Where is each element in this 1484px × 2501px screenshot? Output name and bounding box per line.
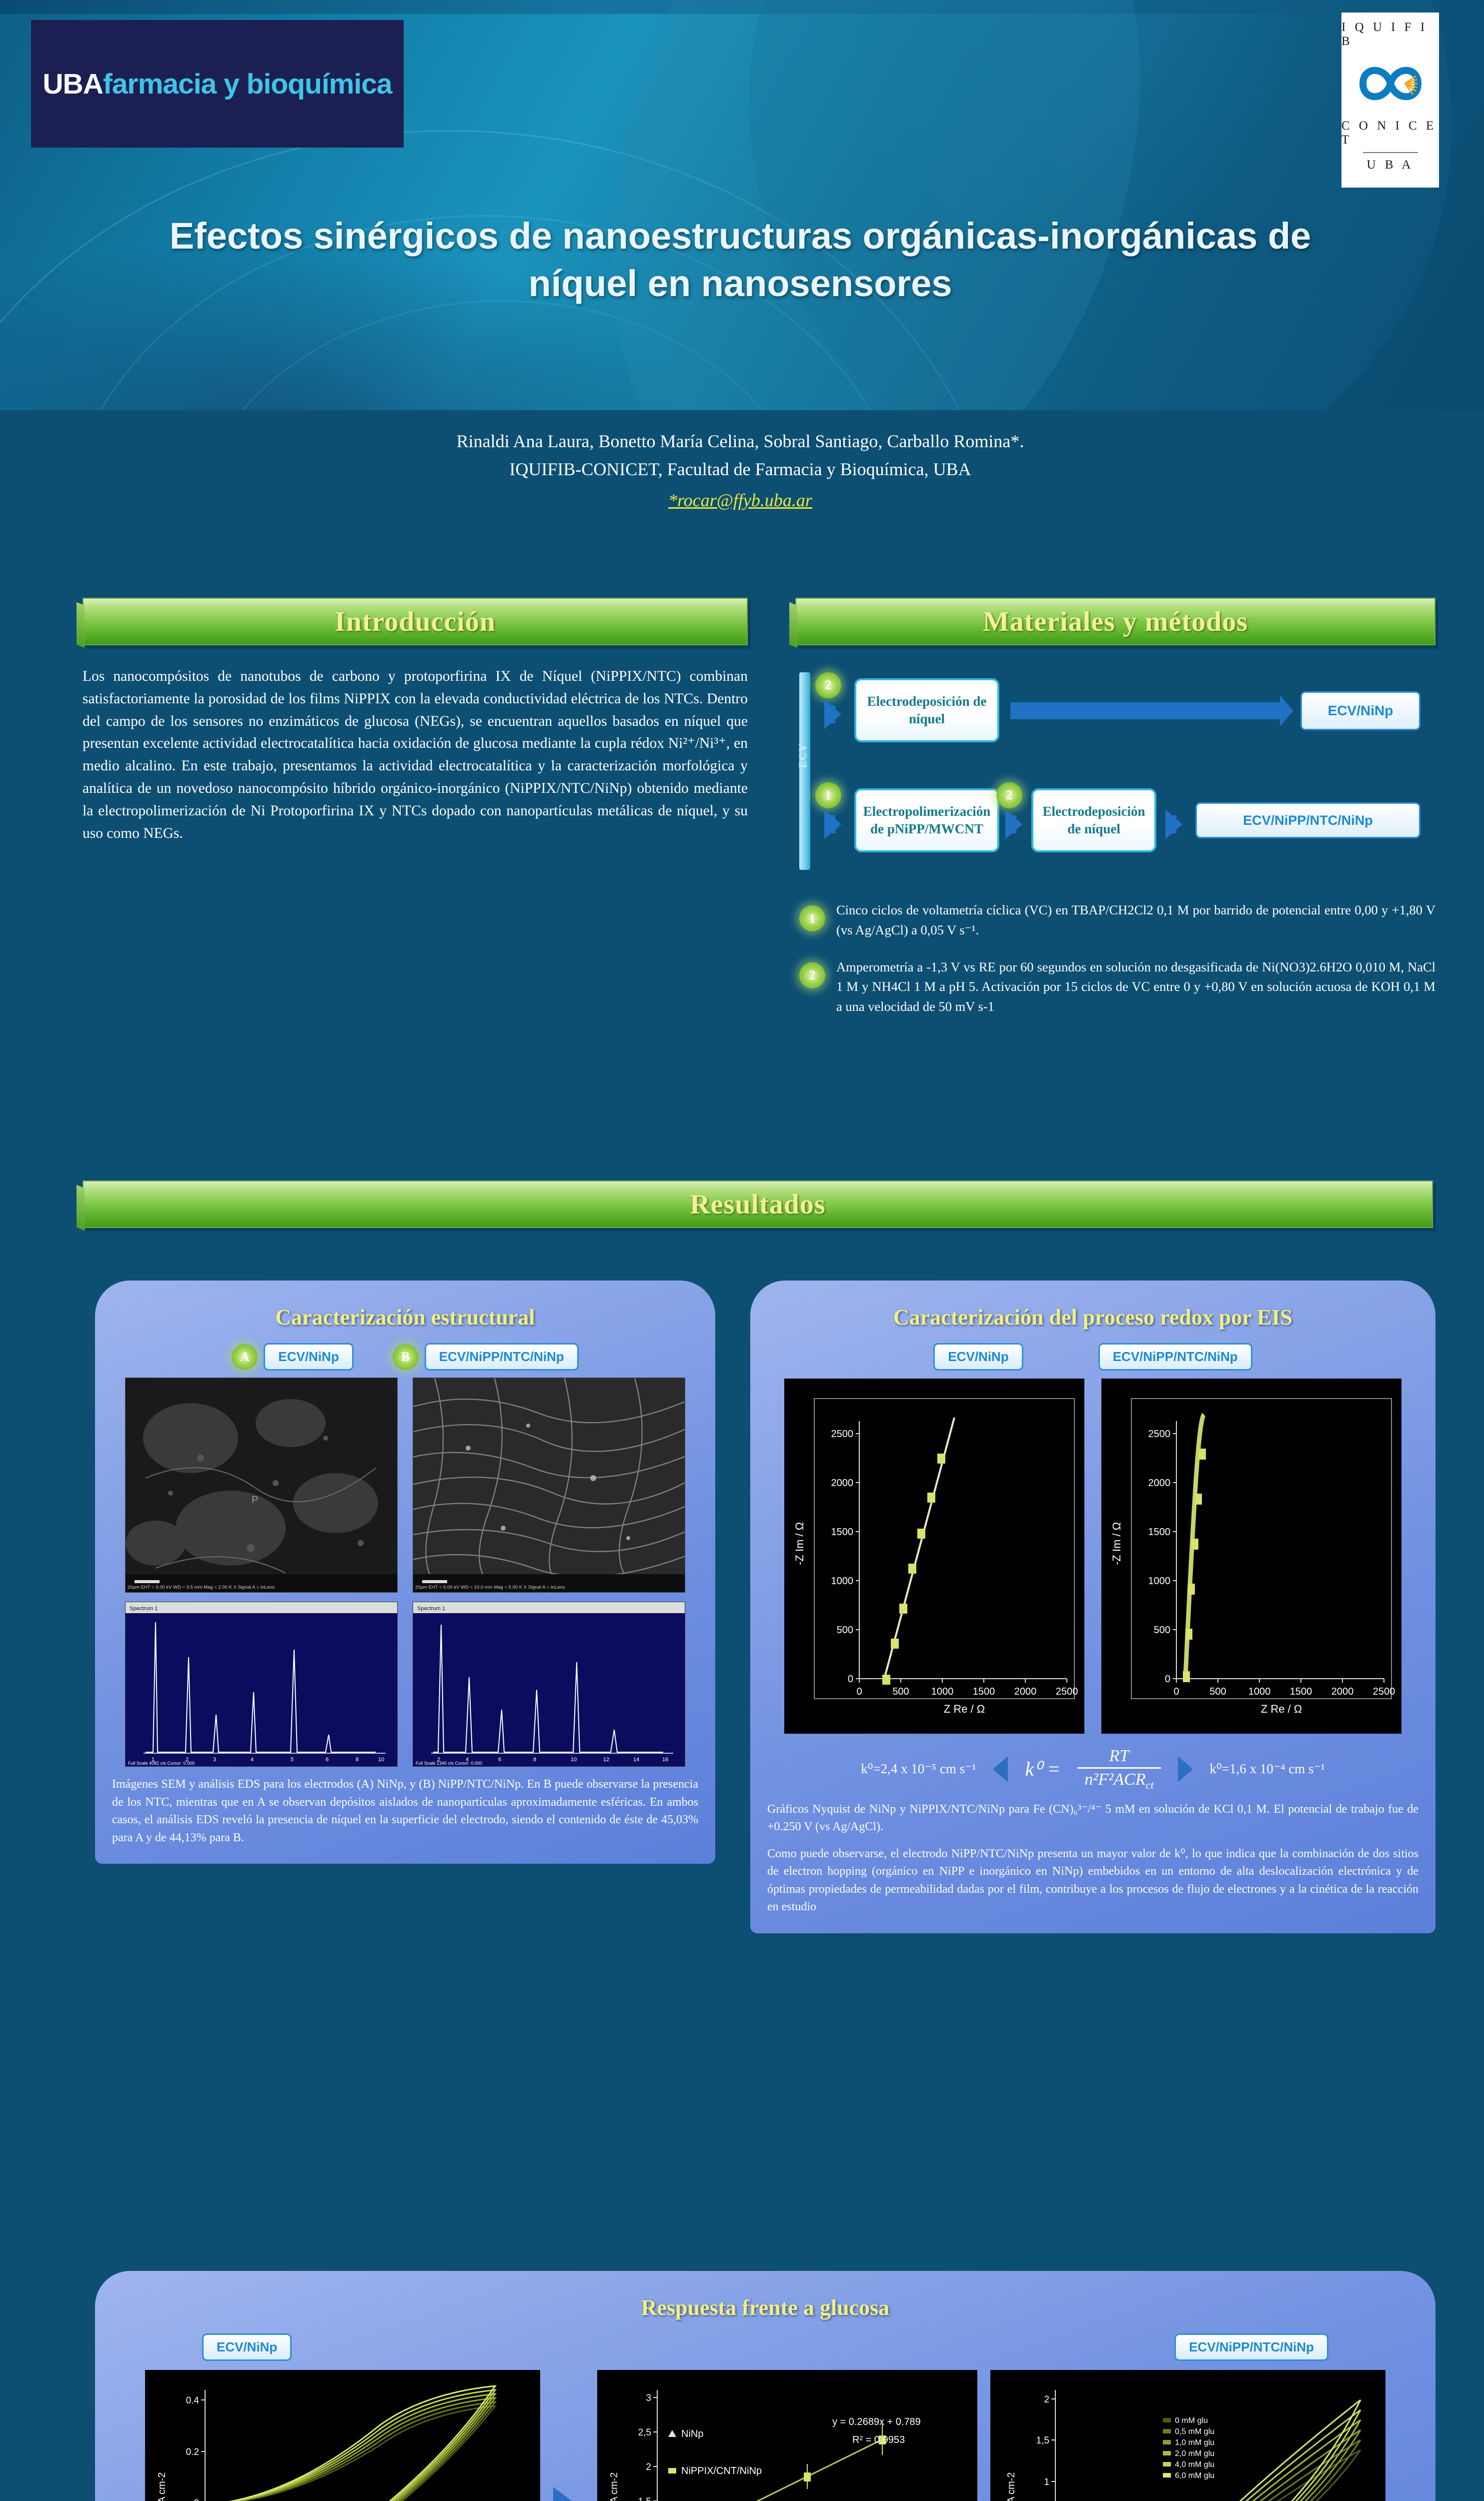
svg-text:2000: 2000 (1331, 1686, 1354, 1697)
flow-step-badge-1b: 1 (815, 782, 841, 808)
svg-text:0: 0 (1173, 1686, 1179, 1697)
svg-text:500: 500 (1209, 1686, 1226, 1697)
infinity-icon (1353, 54, 1428, 116)
svg-text:Z Re / Ω: Z Re / Ω (944, 1703, 985, 1715)
equation-fraction: RT n²F²ACRct (1077, 1747, 1160, 1792)
caracterizacion-estructural-caption: Imágenes SEM y análisis EDS para los ele… (112, 1776, 698, 1847)
materiales-banner: Materiales y métodos (795, 598, 1435, 645)
flow-box-electropolimerizacion: Electropolimerización de pNiPP/MWCNT (854, 788, 999, 852)
svg-text:1500: 1500 (1290, 1686, 1312, 1697)
svg-text:3: 3 (646, 2393, 651, 2403)
svg-text:0 mM glu: 0 mM glu (1175, 2416, 1208, 2425)
respuesta-glucosa-panel: Respuesta frente a glucosa ECV/NiNp ECV/… (95, 2271, 1435, 2501)
conicet-label: C O N I C E T (1341, 119, 1439, 147)
flow-output-ecv-nipp-ntc-ninp: ECV/NiPP/NTC/NiNp (1195, 802, 1420, 838)
contact-email-link[interactable]: *rocar@ffyb.uba.ar (668, 487, 812, 515)
svg-text:I / mA cm-2: I / mA cm-2 (609, 2472, 620, 2501)
eds-b-footer: Full Scale 1340 cts Cursor: 0.000 (416, 1761, 482, 1766)
svg-text:0.2: 0.2 (186, 2447, 199, 2457)
eds-spectrum-a: Spectrum 1 123 456 810 Full Scale 4082 c… (125, 1602, 398, 1767)
rate-constant-equation-row: k⁰=2,4 x 10⁻⁵ cm s⁻¹ k⁰ = RT n²F²ACRct k… (767, 1747, 1418, 1792)
tag-ecv-ninp-sem: ECV/NiNp (264, 1343, 353, 1371)
arrow-right-icon (1178, 1756, 1193, 1782)
k0-value-left: k⁰=2,4 x 10⁻⁵ cm s⁻¹ (861, 1761, 976, 1777)
eis-title: Caracterización del proceso redox por EI… (767, 1305, 1418, 1330)
logo-divider (1363, 152, 1418, 153)
svg-text:0: 0 (848, 1674, 853, 1685)
arrow-to-calibration-icon (553, 2487, 584, 2501)
iquifib-conicet-logo: I Q U I F I B C O N I C E T U B A (1341, 13, 1439, 188)
svg-text:1000: 1000 (831, 1576, 854, 1587)
svg-text:1500: 1500 (1148, 1527, 1171, 1538)
svg-text:2: 2 (646, 2462, 651, 2472)
iquifib-label: I Q U I F I B (1341, 21, 1439, 49)
svg-text:Z Re / Ω: Z Re / Ω (1261, 1703, 1302, 1715)
resultados-banner: Resultados (83, 1180, 1433, 1228)
cv-plot-ecv-nipp-ntc-ninp: 21,51 0,50-0,5 0200400 600800 E / mV (vs… (990, 2370, 1385, 2501)
uba-logo-white-text: UBA (43, 68, 103, 100)
eds-spectrum-b: Spectrum 1 246 81012 1416 Full Scale 134… (413, 1602, 685, 1767)
flow-step-badge-2b: 2 (996, 782, 1022, 808)
svg-text:500: 500 (1154, 1625, 1170, 1636)
sem-scalebar-a-text: 20µm EHT = 5.00 kV WD = 9.5 mm Mag = 2.0… (128, 1585, 275, 1590)
svg-text:I / mA cm-2: I / mA cm-2 (157, 2472, 168, 2501)
eis-caption-1: Gráficos Nyquist de NiNp y NiPPIX/NTC/Ni… (767, 1801, 1418, 1836)
introduccion-column: Introducción Los nanocompósitos de nanot… (83, 598, 748, 845)
flow-box-electrodeposicion-2: Electrodeposición de níquel (1031, 788, 1156, 852)
svg-text:-Z Im / Ω: -Z Im / Ω (793, 1522, 806, 1565)
svg-text:2500: 2500 (1056, 1686, 1078, 1697)
poster-header: UBAfarmacia y bioquímica I Q U I F I B C… (0, 0, 1484, 410)
authors-block: Rinaldi Ana Laura, Bonetto María Celina,… (165, 428, 1315, 514)
svg-text:14: 14 (633, 1757, 639, 1763)
caracterizacion-estructural-title: Caracterización estructural (112, 1305, 698, 1330)
flow-output-ecv-ninp: ECV/NiNp (1300, 691, 1420, 730)
svg-text:1000: 1000 (1148, 1576, 1171, 1587)
eis-panel: Caracterización del proceso redox por EI… (750, 1281, 1435, 1933)
affiliation-line: IQUIFIB-CONICET, Facultad de Farmacia y … (165, 456, 1315, 484)
svg-text:8: 8 (533, 1757, 536, 1763)
bullet-badge-1: 1 (799, 905, 825, 931)
materiales-bullet-2: 2 Amperometría a -1,3 V vs RE por 60 seg… (795, 957, 1435, 1017)
ecv-vertical-label: ECV (796, 743, 813, 768)
svg-text:4: 4 (251, 1757, 254, 1763)
tag-ecv-nipp-ntc-ninp-sem: ECV/NiPP/NTC/NiNp (425, 1343, 579, 1371)
cv-plot-ecv-ninp: 0.40.20 -0.2-0.4 0200400 600800 E / mV (… (145, 2370, 540, 2501)
svg-text:5: 5 (291, 1757, 294, 1763)
flow-chevron-4 (1165, 809, 1182, 839)
sem-scalebar-b-text: 20µm EHT = 5.00 kV WD = 10.0 mm Mag = 5.… (415, 1585, 565, 1590)
flow-chevron-3 (1005, 809, 1022, 839)
svg-text:2: 2 (1044, 2394, 1049, 2405)
svg-text:0,5 mM glu: 0,5 mM glu (1175, 2427, 1214, 2436)
svg-text:6: 6 (498, 1757, 501, 1763)
flow-arrow-1 (1010, 702, 1280, 719)
svg-text:16: 16 (662, 1757, 668, 1763)
sem-image-b: 20µm EHT = 5.00 kV WD = 10.0 mm Mag = 5.… (413, 1378, 685, 1593)
svg-text:2,0 mM glu: 2,0 mM glu (1175, 2449, 1214, 2458)
svg-text:6,0 mM glu: 6,0 mM glu (1175, 2471, 1214, 2480)
nyquist-plot-ecv-nipp-ntc-ninp: 250020001500 10005000 05001000 150020002… (1101, 1379, 1401, 1734)
svg-text:500: 500 (837, 1625, 853, 1636)
flow-box-electrodeposicion-1: Electrodeposición de níquel (854, 678, 999, 742)
caracterizacion-estructural-panel: Caracterización estructural A ECV/NiNp B… (95, 1281, 715, 1864)
ecv-vertical-bar (799, 672, 810, 870)
svg-text:0: 0 (194, 2498, 199, 2501)
svg-text:1000: 1000 (1248, 1686, 1271, 1697)
equation-lhs: k⁰ = (1025, 1757, 1060, 1781)
uba-logo-cyan-text: farmacia y bioquímica (103, 68, 392, 100)
bullet-badge-2: 2 (799, 962, 825, 988)
svg-text:2000: 2000 (1148, 1478, 1171, 1489)
page-title: Efectos sinérgicos de nanoestructuras or… (165, 213, 1315, 307)
svg-text:1,0 mM glu: 1,0 mM glu (1175, 2438, 1214, 2447)
svg-text:1500: 1500 (973, 1686, 995, 1697)
materiales-bullet-1-text: Cinco ciclos de voltametría cíclica (VC)… (836, 902, 1435, 937)
svg-text:R² = 0.9953: R² = 0.9953 (852, 2434, 905, 2445)
svg-text:2,5: 2,5 (638, 2427, 651, 2438)
resultados-section: Resultados (83, 1180, 1433, 1228)
svg-text:10: 10 (571, 1757, 577, 1763)
materiales-banner-label: Materiales y métodos (983, 606, 1248, 638)
svg-text:2000: 2000 (1014, 1686, 1037, 1697)
tag-ecv-nipp-ntc-ninp-eis: ECV/NiPP/NTC/NiNp (1098, 1343, 1252, 1371)
introduccion-text: Los nanocompósitos de nanotubos de carbo… (83, 665, 748, 845)
svg-text:P: P (252, 1495, 258, 1506)
tag-letter-a: A (232, 1344, 258, 1370)
introduccion-banner: Introducción (83, 598, 748, 645)
equation-denominator-sub: ct (1146, 1779, 1154, 1791)
tag-ecv-ninp-eis: ECV/NiNp (933, 1343, 1023, 1371)
svg-text:Spectrum 1: Spectrum 1 (417, 1606, 445, 1612)
svg-text:10: 10 (378, 1757, 384, 1763)
uba-logo: UBAfarmacia y bioquímica (31, 20, 404, 148)
svg-text:-Z Im / Ω: -Z Im / Ω (1110, 1522, 1123, 1565)
svg-text:0: 0 (856, 1686, 862, 1697)
k0-value-right: k⁰=1,6 x 10⁻⁴ cm s⁻¹ (1210, 1761, 1325, 1777)
svg-text:4,0 mM glu: 4,0 mM glu (1175, 2460, 1214, 2469)
tag-ecv-nipp-ntc-ninp-glucosa: ECV/NiPP/NTC/NiNp (1174, 2333, 1328, 2361)
flow-chevron-2 (824, 809, 841, 839)
tag-ecv-ninp-glucosa: ECV/NiNp (202, 2333, 292, 2361)
nyquist-plot-ecv-ninp: 250020001500 10005000 05001000 150020002… (784, 1379, 1084, 1734)
arrow-left-icon (993, 1756, 1008, 1782)
svg-text:1: 1 (1044, 2477, 1049, 2487)
svg-text:1500: 1500 (831, 1527, 854, 1538)
materiales-column: Materiales y métodos ECV 2 Electrodeposi… (795, 598, 1435, 1017)
svg-text:6: 6 (326, 1757, 329, 1763)
svg-text:3: 3 (213, 1757, 216, 1763)
equation-numerator: RT (1077, 1747, 1160, 1767)
svg-text:I / mA cm-2: I / mA cm-2 (1006, 2472, 1017, 2501)
svg-text:2500: 2500 (831, 1429, 854, 1440)
respuesta-glucosa-title: Respuesta frente a glucosa (112, 2295, 1418, 2320)
flow-chevron-1 (824, 699, 841, 729)
authors-line: Rinaldi Ana Laura, Bonetto María Celina,… (165, 428, 1315, 456)
introduccion-banner-label: Introducción (335, 606, 496, 638)
materiales-bullet-1: 1 Cinco ciclos de voltametría cíclica (V… (795, 900, 1435, 940)
equation-denominator: n²F²ACRct (1077, 1767, 1160, 1792)
svg-text:2000: 2000 (831, 1478, 854, 1489)
svg-text:12: 12 (603, 1757, 609, 1763)
svg-text:NiPPIX/CNT/NiNp: NiPPIX/CNT/NiNp (681, 2465, 762, 2476)
svg-text:500: 500 (892, 1686, 909, 1697)
eds-a-footer: Full Scale 4082 cts Cursor: 0.000 (128, 1761, 195, 1766)
svg-text:1,5: 1,5 (1036, 2435, 1049, 2446)
svg-text:2500: 2500 (1373, 1686, 1395, 1697)
svg-text:y = 0.2689x + 0.789: y = 0.2689x + 0.789 (832, 2416, 921, 2427)
calibration-plot: 32,52 1,510,5 0 024 68 Concentración de … (597, 2370, 977, 2501)
svg-text:0.4: 0.4 (186, 2395, 200, 2406)
svg-text:2500: 2500 (1148, 1429, 1171, 1440)
equation-denominator-main: n²F²ACR (1084, 1770, 1145, 1789)
sem-image-a: P 20µm EHT = 5.00 kV WD = 9.5 mm Mag = 2… (125, 1378, 398, 1593)
eis-caption-2: Como puede observarse, el electrodo NiPP… (767, 1845, 1418, 1916)
resultados-banner-label: Resultados (690, 1188, 825, 1220)
svg-text:NiNp: NiNp (681, 2428, 703, 2439)
svg-text:0: 0 (1165, 1674, 1170, 1685)
tag-letter-b: B (393, 1344, 419, 1370)
uba-label: U B A (1367, 158, 1414, 172)
svg-text:8: 8 (356, 1757, 359, 1763)
svg-text:1,5: 1,5 (638, 2496, 651, 2501)
flow-step-badge-2a: 2 (815, 672, 841, 698)
materiales-bullet-2-text: Amperometría a -1,3 V vs RE por 60 segun… (836, 959, 1435, 1014)
methods-flowchart: ECV 2 Electrodeposición de níquel ECV/Ni… (795, 668, 1435, 883)
svg-text:1000: 1000 (931, 1686, 954, 1697)
svg-text:Spectrum 1: Spectrum 1 (130, 1606, 158, 1612)
